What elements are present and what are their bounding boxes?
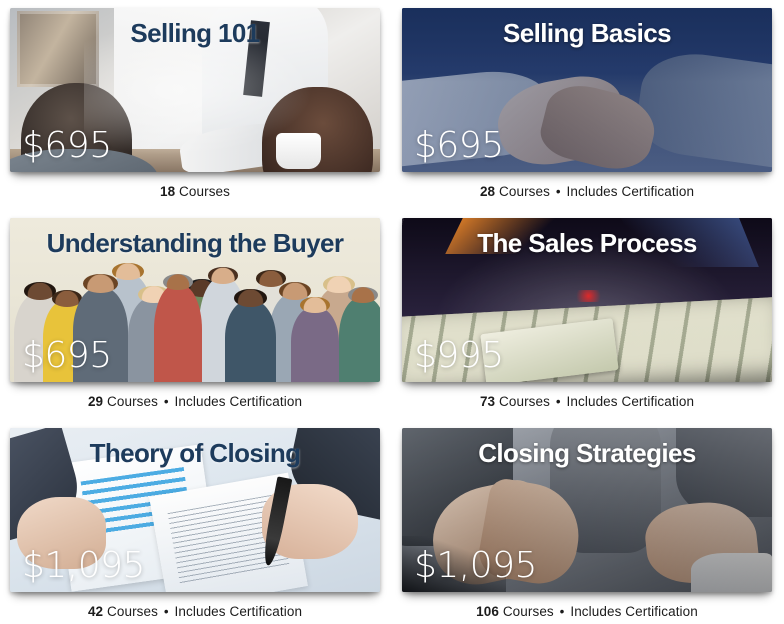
course-banner-understanding-the-buyer[interactable]: Understanding the Buyer $695 bbox=[10, 218, 380, 382]
course-banner-closing-strategies[interactable]: Closing Strategies $1,095 bbox=[402, 428, 772, 592]
course-card-selling-101[interactable]: Selling 101 $695 18 Courses bbox=[0, 0, 392, 210]
course-title: Understanding the Buyer bbox=[10, 230, 380, 257]
meta-separator: • bbox=[558, 604, 567, 619]
course-price: $695 bbox=[414, 128, 504, 164]
course-count: 29 bbox=[88, 394, 103, 409]
course-card-selling-basics[interactable]: Selling Basics $695 28 Courses • Include… bbox=[392, 0, 784, 210]
meta-separator: • bbox=[162, 604, 171, 619]
course-title: Selling 101 bbox=[10, 20, 380, 47]
course-banner-theory-of-closing[interactable]: Theory of Closing $1,095 bbox=[10, 428, 380, 592]
course-title: The Sales Process bbox=[402, 230, 772, 257]
certification-label: Includes Certification bbox=[570, 604, 698, 619]
certification-label: Includes Certification bbox=[567, 184, 695, 199]
course-meta: 18 Courses bbox=[10, 184, 380, 199]
certification-label: Includes Certification bbox=[175, 604, 303, 619]
certification-label: Includes Certification bbox=[175, 394, 303, 409]
course-count-label: Courses bbox=[107, 604, 158, 619]
course-title: Theory of Closing bbox=[10, 440, 380, 467]
course-price: $995 bbox=[414, 338, 504, 374]
course-card-theory-of-closing[interactable]: Theory of Closing $1,095 42 Courses • In… bbox=[0, 420, 392, 624]
course-count-label: Courses bbox=[499, 184, 550, 199]
course-title: Selling Basics bbox=[402, 20, 772, 47]
course-price: $1,095 bbox=[22, 548, 145, 584]
course-count-label: Courses bbox=[107, 394, 158, 409]
course-card-the-sales-process[interactable]: The Sales Process $995 73 Courses • Incl… bbox=[392, 210, 784, 420]
course-meta: 73 Courses • Includes Certification bbox=[402, 394, 772, 409]
course-count-label: Courses bbox=[503, 604, 554, 619]
course-card-closing-strategies[interactable]: Closing Strategies $1,095 106 Courses • … bbox=[392, 420, 784, 624]
meta-separator: • bbox=[162, 394, 171, 409]
course-count-label: Courses bbox=[179, 184, 230, 199]
meta-separator: • bbox=[554, 394, 563, 409]
course-title: Closing Strategies bbox=[402, 440, 772, 467]
meta-separator: • bbox=[554, 184, 563, 199]
course-meta: 28 Courses • Includes Certification bbox=[402, 184, 772, 199]
course-meta: 42 Courses • Includes Certification bbox=[10, 604, 380, 619]
certification-label: Includes Certification bbox=[567, 394, 695, 409]
course-count: 18 bbox=[160, 184, 175, 199]
course-price: $1,095 bbox=[414, 548, 537, 584]
course-count: 42 bbox=[88, 604, 103, 619]
course-card-understanding-the-buyer[interactable]: Understanding the Buyer $695 29 Courses … bbox=[0, 210, 392, 420]
course-count: 106 bbox=[476, 604, 499, 619]
course-meta: 29 Courses • Includes Certification bbox=[10, 394, 380, 409]
course-price: $695 bbox=[22, 338, 112, 374]
course-count: 28 bbox=[480, 184, 495, 199]
course-meta: 106 Courses • Includes Certification bbox=[402, 604, 772, 619]
course-price: $695 bbox=[22, 128, 112, 164]
course-banner-the-sales-process[interactable]: The Sales Process $995 bbox=[402, 218, 772, 382]
course-count: 73 bbox=[480, 394, 495, 409]
course-card-grid: Selling 101 $695 18 Courses Selling Basi… bbox=[0, 0, 784, 624]
course-count-label: Courses bbox=[499, 394, 550, 409]
course-banner-selling-basics[interactable]: Selling Basics $695 bbox=[402, 8, 772, 172]
course-banner-selling-101[interactable]: Selling 101 $695 bbox=[10, 8, 380, 172]
